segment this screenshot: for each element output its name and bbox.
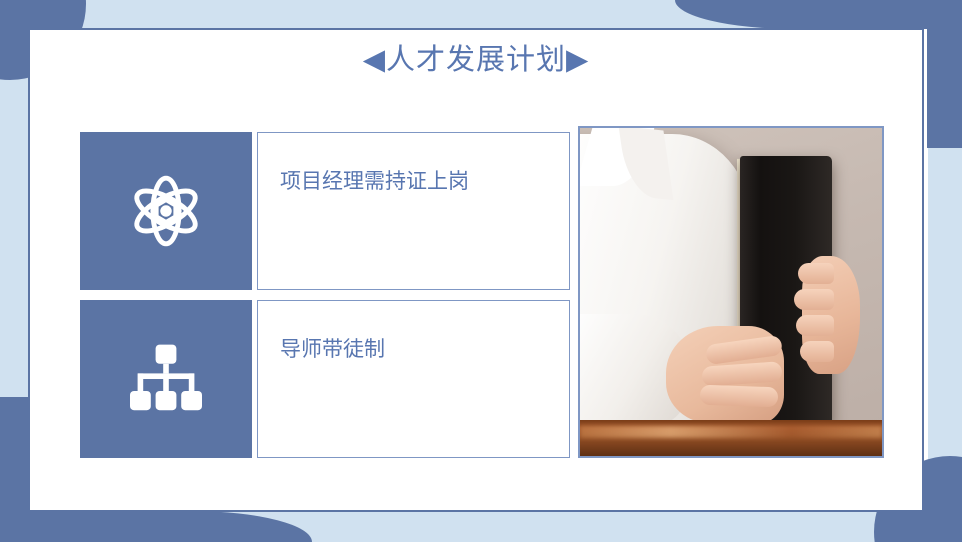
photo-content: [580, 128, 882, 456]
page-title: ◀人才发展计划▶: [28, 40, 924, 80]
photo-upper-fingers: [798, 263, 832, 367]
icon-tile-2[interactable]: [80, 300, 252, 458]
atom-icon: [125, 170, 207, 252]
decor-sweep-left-edge: [0, 397, 29, 542]
org-chart-icon: [126, 343, 206, 415]
photo-lower-fingers: [700, 340, 786, 420]
icon-tile-1[interactable]: [80, 132, 252, 290]
person-holding-black-book-photo: [578, 126, 884, 458]
text-box-1[interactable]: 项目经理需持证上岗: [257, 132, 570, 290]
text-box-2[interactable]: 导师带徒制: [257, 300, 570, 458]
item-label: 导师带徒制: [280, 336, 385, 364]
decor-sweep-right-edge: [927, 0, 962, 148]
photo-table: [580, 420, 882, 456]
item-label: 项目经理需持证上岗: [280, 168, 469, 196]
slide-canvas: ◀人才发展计划▶ 项目经理需持证上岗: [0, 0, 962, 542]
